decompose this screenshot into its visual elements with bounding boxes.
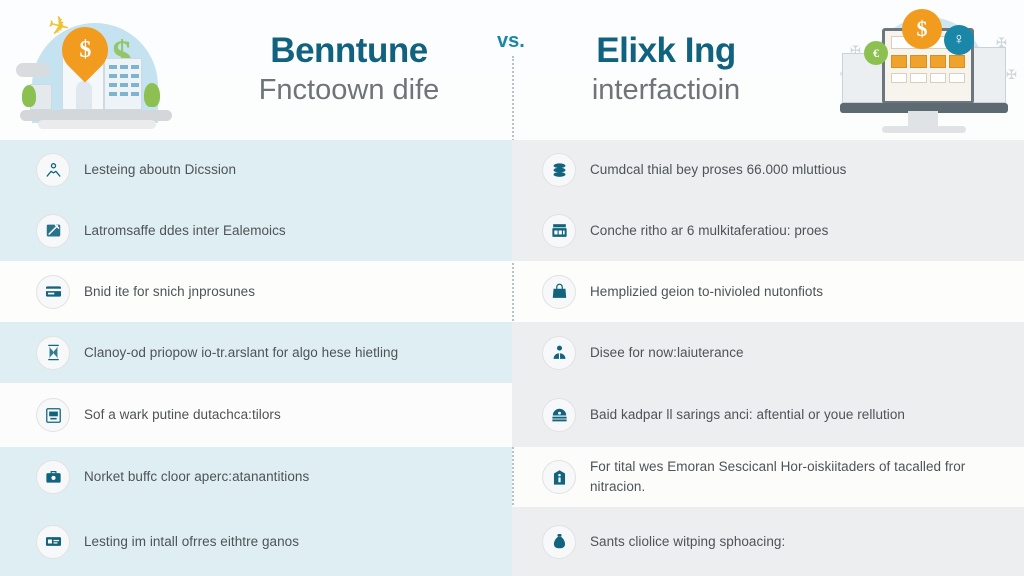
euro-bubble-icon: € bbox=[864, 41, 888, 65]
coin-stack-icon bbox=[542, 153, 576, 187]
credit-card-icon bbox=[36, 275, 70, 309]
list-item[interactable]: Conche ritho ar 6 mulkitaferatiou: proes bbox=[512, 200, 1024, 261]
bank-counter-icon bbox=[542, 214, 576, 248]
left-subtitle: Fnctoown dife bbox=[190, 72, 508, 108]
list-item[interactable]: Disee for now:laiuterance bbox=[512, 322, 1024, 383]
bag-handle-icon bbox=[542, 275, 576, 309]
right-subtitle: interfactioin bbox=[512, 72, 820, 108]
list-item-label: Baid kadpar ll sarings anci: aftential o… bbox=[590, 405, 905, 425]
list-item-label: Lesteing aboutn Dicssion bbox=[84, 160, 236, 180]
list-item[interactable]: Norket buffc cloor aperc:atanantitions bbox=[0, 447, 512, 507]
list-item[interactable]: Sof a wark putine dutachca:tilors bbox=[0, 383, 512, 447]
person-handshake-icon bbox=[36, 153, 70, 187]
sparkle-icon: ✠ bbox=[1006, 67, 1017, 83]
list-item-label: Sof a wark putine dutachca:tilors bbox=[84, 405, 281, 425]
tree-icon bbox=[144, 83, 160, 107]
building-tall bbox=[104, 58, 142, 110]
list-item-label: Sants cliolice witping sphoacing: bbox=[590, 532, 785, 552]
tree-icon bbox=[22, 85, 36, 107]
building-right bbox=[972, 47, 1006, 103]
dollar-bubble-icon: $ bbox=[902, 9, 942, 49]
safe-box-icon bbox=[542, 460, 576, 494]
header-left-titles: Benntune Fnctoown dife bbox=[190, 32, 512, 109]
list-item-label: Norket buffc cloor aperc:atanantitions bbox=[84, 467, 309, 487]
list-item[interactable]: Lesteing aboutn Dicssion bbox=[0, 140, 512, 200]
header-left: ✈ $ $ Benntune Fnctoown dife bbox=[0, 0, 512, 140]
screen-tiles-row-1 bbox=[891, 55, 965, 68]
vault-door-icon bbox=[542, 398, 576, 432]
right-feature-list: Cumdcal thial bey proses 66.000 mluttiou… bbox=[512, 140, 1024, 576]
comparison-columns: Lesteing aboutn DicssionLatromsaffe ddes… bbox=[0, 140, 1024, 576]
cloud-icon bbox=[16, 63, 50, 77]
bank-money-illustration: ✈ $ $ bbox=[0, 5, 190, 135]
left-title: Benntune bbox=[190, 32, 508, 71]
list-item[interactable]: Lesting im intall ofrres eithtre ganos bbox=[0, 507, 512, 576]
left-feature-list: Lesteing aboutn DicssionLatromsaffe ddes… bbox=[0, 140, 512, 576]
document-edit-icon bbox=[36, 214, 70, 248]
right-title: Elixk Ing bbox=[512, 32, 820, 71]
list-item[interactable]: For tital wes Emoran Sescicanl Hor-oiski… bbox=[512, 447, 1024, 507]
list-item-label: Clanoy-od priopow io-tr.arslant for algo… bbox=[84, 343, 398, 363]
list-item[interactable]: Bnid ite for snich jnprosunes bbox=[0, 261, 512, 322]
person-suit-icon bbox=[542, 336, 576, 370]
hourglass-icon bbox=[36, 336, 70, 370]
list-item-label: For tital wes Emoran Sescicanl Hor-oiski… bbox=[590, 457, 1002, 496]
briefcase-lock-icon bbox=[36, 460, 70, 494]
screen-tiles-row-2 bbox=[891, 73, 965, 83]
money-bag-icon bbox=[542, 525, 576, 559]
header-right-titles: Elixk Ing interfactioin bbox=[512, 32, 824, 109]
list-item[interactable]: Clanoy-od priopow io-tr.arslant for algo… bbox=[0, 322, 512, 383]
monitor-foot bbox=[882, 126, 966, 133]
cheque-icon bbox=[36, 525, 70, 559]
online-banking-monitor-illustration: ✠ ✠ ✠ ✠ € $ ♀ bbox=[824, 5, 1024, 135]
versus-badge: vs. bbox=[497, 30, 525, 53]
list-item-label: Cumdcal thial bey proses 66.000 mluttiou… bbox=[590, 160, 846, 180]
list-item[interactable]: Sants cliolice witping sphoacing: bbox=[512, 507, 1024, 576]
list-item-label: Lesting im intall ofrres eithtre ganos bbox=[84, 532, 299, 552]
header-right: Elixk Ing interfactioin ✠ ✠ ✠ ✠ € $ ♀ bbox=[512, 0, 1024, 140]
list-item[interactable]: Cumdcal thial bey proses 66.000 mluttiou… bbox=[512, 140, 1024, 200]
list-item-label: Conche ritho ar 6 mulkitaferatiou: proes bbox=[590, 221, 828, 241]
list-item[interactable]: Latromsaffe ddes inter Ealemoics bbox=[0, 200, 512, 261]
list-item-label: Disee for now:laiuterance bbox=[590, 343, 744, 363]
list-item-label: Hemplizied geion to-nivioled nutonfiots bbox=[590, 282, 823, 302]
atm-machine-icon bbox=[36, 398, 70, 432]
list-item-label: Bnid ite for snich jnprosunes bbox=[84, 282, 255, 302]
illustration-shadow bbox=[38, 120, 156, 129]
list-item-label: Latromsaffe ddes inter Ealemoics bbox=[84, 221, 286, 241]
list-item[interactable]: Hemplizied geion to-nivioled nutonfiots bbox=[512, 261, 1024, 322]
key-bubble-icon: ♀ bbox=[944, 25, 974, 55]
list-item[interactable]: Baid kadpar ll sarings anci: aftential o… bbox=[512, 383, 1024, 447]
